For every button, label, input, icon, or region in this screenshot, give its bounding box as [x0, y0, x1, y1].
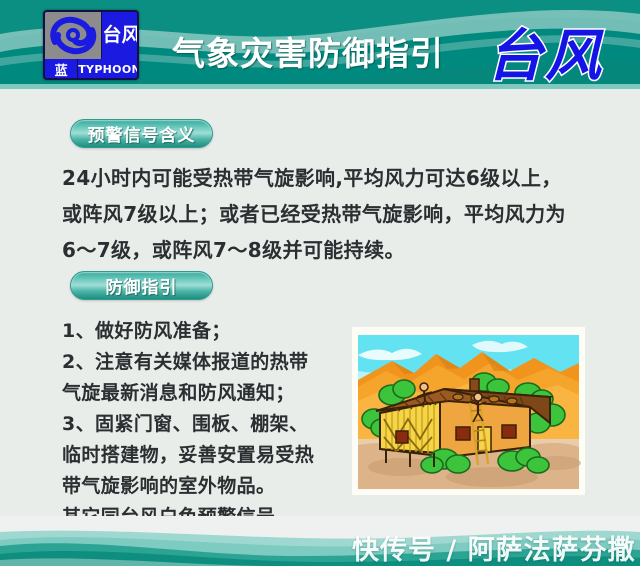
poster-root: 台风 蓝 TYPHOON 气象灾害防御指引 台风 预警信号含义 24小时内可能受… — [0, 0, 640, 566]
header-banner: 台风 蓝 TYPHOON 气象灾害防御指引 台风 — [0, 0, 640, 84]
typhoon-warning-logo: 台风 蓝 TYPHOON — [43, 10, 139, 80]
typhoon-swirl-icon — [45, 12, 102, 59]
logo-char-label: 台风 — [102, 12, 139, 59]
guide-line: 3、固紧门窗、围板、棚架、 — [62, 409, 340, 440]
logo-level-label: 蓝 — [45, 59, 78, 80]
section-heading-defense-guide-label: 防御指引 — [106, 273, 178, 298]
logo-top-row: 台风 — [45, 12, 139, 59]
section-heading-warning-meaning: 预警信号含义 — [70, 119, 213, 148]
header-accent-strip — [0, 84, 640, 89]
section-heading-warning-meaning-label: 预警信号含义 — [88, 121, 196, 146]
guide-line: 1、做好防风准备； — [62, 316, 340, 347]
hazard-name-title: 台风 — [487, 11, 603, 84]
guide-line: 临时搭建物，妥善安置易受热 — [62, 440, 340, 471]
section-heading-defense-guide: 防御指引 — [70, 271, 213, 300]
guide-line: 带气旋影响的室外物品。 — [62, 471, 340, 502]
logo-english-label: TYPHOON — [78, 59, 139, 80]
guide-line: 2、注意有关媒体报道的热带 — [62, 347, 340, 378]
defense-guide-body: 1、做好防风准备； 2、注意有关媒体报道的热带 气旋最新消息和防风通知； 3、固… — [62, 316, 340, 533]
guide-line: 气旋最新消息和防风通知； — [62, 378, 340, 409]
logo-bottom-row: 蓝 TYPHOON — [45, 59, 139, 80]
page-title: 气象灾害防御指引 — [172, 27, 444, 75]
warning-meaning-body: 24小时内可能受热带气旋影响,平均风力可达6级以上，或阵风7级以上；或者已经受热… — [62, 160, 578, 268]
watermark-text: 快传号 / 阿萨法萨芬撒 — [352, 528, 636, 566]
house-reinforcement-illustration — [352, 327, 585, 495]
